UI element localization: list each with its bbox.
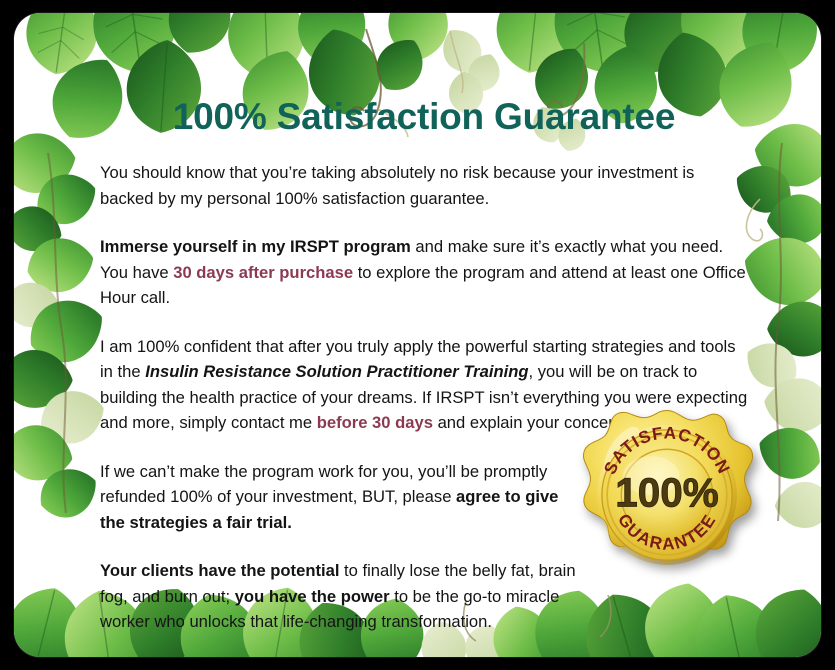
p5-run-0: Your clients have the potential <box>100 561 339 580</box>
paragraph-4: If we can’t make the program work for yo… <box>100 459 570 536</box>
paragraph-5: Your clients have the potential to final… <box>100 558 592 635</box>
p2-run-0: Immerse yourself in my IRSPT program <box>100 237 411 256</box>
seal-center-text: 100% <box>615 469 719 515</box>
p3-run-3: before 30 days <box>317 413 433 432</box>
screenshot-root: 100% Satisfaction Guarantee You should k… <box>0 0 835 670</box>
page-title: 100% Satisfaction Guarantee <box>100 96 748 138</box>
paragraph-1: You should know that you’re taking absol… <box>100 160 748 211</box>
p5-run-2: you have the power <box>235 587 390 606</box>
p1-run-0: You should know that you’re taking absol… <box>100 163 694 208</box>
p3-run-1: Insulin Resistance Solution Practitioner… <box>145 362 528 381</box>
paragraph-2: Immerse yourself in my IRSPT program and… <box>100 234 748 311</box>
p2-run-2: 30 days after purchase <box>173 263 353 282</box>
satisfaction-guarantee-seal-icon: SATISFACTION GUARANTEE 100% <box>577 407 757 583</box>
guarantee-card: 100% Satisfaction Guarantee You should k… <box>14 13 821 657</box>
